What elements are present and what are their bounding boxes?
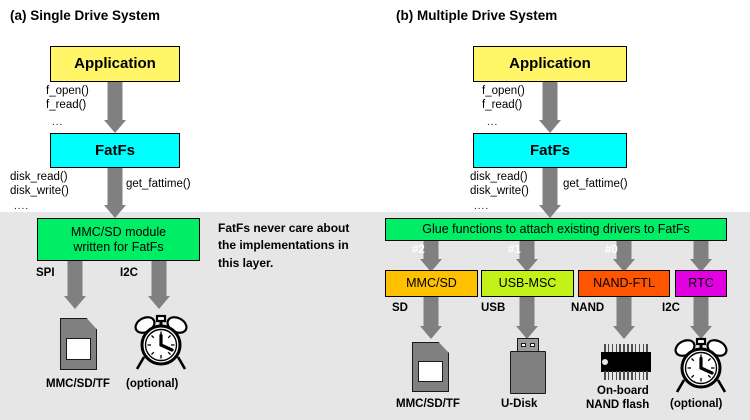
left-label-disk-write: disk_write() <box>10 185 69 197</box>
bus-arrow-nand <box>605 297 643 339</box>
bus-label-nand: NAND <box>571 302 604 314</box>
alarm-clock-icon-right <box>672 336 730 396</box>
panel-title-multiple-drive: (b) Multiple Drive System <box>396 8 557 23</box>
right-application-box[interactable]: Application <box>473 46 627 82</box>
glue-functions-label: Glue functions to attach existing driver… <box>422 222 689 236</box>
driver-box-mmcsd[interactable]: MMC/SD <box>385 270 478 297</box>
glue-arrow-rtc <box>682 241 720 272</box>
left-module-label-line2: written for FatFs <box>73 240 163 254</box>
right-application-label: Application <box>509 55 591 72</box>
alarm-clock-svg <box>132 313 190 373</box>
nand-chip-pins-bottom <box>604 371 648 380</box>
left-device-label-mmcsdtf: MMC/SD/TF <box>46 378 110 390</box>
right-device-label-nand-line1: On-board <box>597 385 649 397</box>
right-label-disk-read: disk_read() <box>470 171 528 183</box>
left-label-spi: SPI <box>36 267 55 279</box>
left-module-label-line1: MMC/SD module <box>71 225 166 239</box>
left-arrow-fatfs-to-module <box>96 168 134 218</box>
driver-label-rtc: RTC <box>688 276 713 290</box>
left-label-f-read: f_read() <box>46 99 86 111</box>
right-arrow-fatfs-to-glue <box>531 168 569 218</box>
alarm-clock-svg-right <box>672 336 730 396</box>
driver-box-nandftl[interactable]: NAND-FTL <box>578 270 670 297</box>
drive-number-1: #1 <box>508 244 521 256</box>
panel-title-single-drive: (a) Single Drive System <box>10 8 160 23</box>
nand-chip-icon <box>601 344 651 380</box>
driver-label-mmcsd: MMC/SD <box>406 276 457 290</box>
right-label-f-open: f_open() <box>482 85 525 97</box>
left-fatfs-label: FatFs <box>95 142 135 159</box>
bus-arrow-sd <box>412 297 450 339</box>
right-label-f-read: f_read() <box>482 99 522 111</box>
right-fatfs-label: FatFs <box>530 142 570 159</box>
bus-label-i2c: I2C <box>662 302 680 314</box>
left-label-i2c: I2C <box>120 267 138 279</box>
layer-note-line3: this layer. <box>218 255 368 272</box>
usb-drive-icon <box>510 338 546 394</box>
left-label-get-fattime: get_fattime() <box>126 178 191 190</box>
left-label-f-open: f_open() <box>46 85 89 97</box>
layer-note-line2: the implementations in <box>218 237 368 254</box>
right-label-ellipsis-top: ... <box>487 117 498 128</box>
left-device-label-optional: (optional) <box>126 378 178 390</box>
left-label-ellipsis-bottom: .... <box>14 201 29 212</box>
driver-label-usbmsc: USB-MSC <box>499 276 557 290</box>
left-application-label: Application <box>74 55 156 72</box>
bus-label-sd: SD <box>392 302 408 314</box>
sd-card-icon-right <box>412 342 449 392</box>
right-device-label-nand-line2: NAND flash <box>586 399 649 411</box>
bus-arrow-usb <box>508 297 546 339</box>
driver-box-usbmsc[interactable]: USB-MSC <box>481 270 574 297</box>
layer-note: FatFs never care about the implementatio… <box>218 220 368 272</box>
right-label-get-fattime: get_fattime() <box>563 178 628 190</box>
sd-card-icon <box>60 318 97 370</box>
layer-note-line1: FatFs never care about <box>218 220 368 237</box>
left-arrow-i2c <box>140 261 178 309</box>
left-label-ellipsis-top: ... <box>52 117 63 128</box>
left-mmcsd-module-box[interactable]: MMC/SD module written for FatFs <box>37 218 200 261</box>
bus-arrow-i2c <box>682 297 720 339</box>
right-fatfs-box[interactable]: FatFs <box>473 133 627 168</box>
driver-box-rtc[interactable]: RTC <box>675 270 727 297</box>
right-device-label-udisk: U-Disk <box>501 398 537 410</box>
diagram-canvas: (a) Single Drive System Application f_op… <box>0 0 750 420</box>
usb-slot-right <box>530 343 535 347</box>
bus-label-usb: USB <box>481 302 505 314</box>
left-arrow-spi <box>56 261 94 309</box>
right-device-label-mmcsdtf: MMC/SD/TF <box>396 398 460 410</box>
drive-number-2: #2 <box>412 244 425 256</box>
alarm-clock-icon <box>132 313 190 373</box>
right-device-label-optional: (optional) <box>670 398 722 410</box>
right-arrow-app-to-fatfs <box>531 82 569 133</box>
right-label-ellipsis-bottom: .... <box>474 201 489 212</box>
left-arrow-app-to-fatfs <box>96 82 134 133</box>
left-application-box[interactable]: Application <box>50 46 180 82</box>
right-label-disk-write: disk_write() <box>470 185 529 197</box>
driver-label-nandftl: NAND-FTL <box>593 276 655 290</box>
left-fatfs-box[interactable]: FatFs <box>50 133 180 168</box>
glue-functions-box[interactable]: Glue functions to attach existing driver… <box>385 218 727 241</box>
drive-number-0: #0 <box>605 244 618 256</box>
usb-slot-left <box>521 343 526 347</box>
left-label-disk-read: disk_read() <box>10 171 68 183</box>
